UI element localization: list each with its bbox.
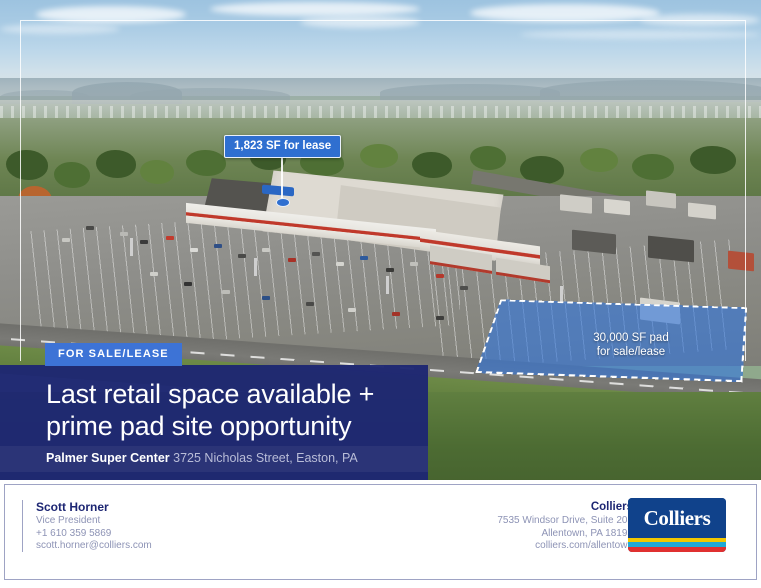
tree — [186, 150, 226, 176]
cloud — [470, 4, 660, 22]
tree — [470, 146, 506, 170]
colliers-logo[interactable]: Colliers — [628, 498, 726, 552]
house — [646, 190, 676, 208]
footer-accent-rule — [22, 500, 23, 552]
status-badge: FOR SALE/LEASE — [45, 343, 182, 366]
car — [436, 316, 444, 320]
logo-plate: Colliers — [628, 498, 726, 538]
light-pole — [130, 238, 133, 256]
office-address-line-1: 7535 Windsor Drive, Suite 208 — [497, 515, 633, 528]
house — [560, 194, 592, 213]
contact-block: Scott Horner Vice President +1 610 359 5… — [36, 499, 152, 553]
car — [222, 290, 230, 294]
tree — [140, 160, 174, 184]
car — [348, 308, 356, 312]
car — [214, 244, 222, 248]
car — [262, 248, 270, 252]
car — [62, 238, 70, 242]
tree — [690, 146, 736, 174]
car — [190, 248, 198, 252]
pad-site-label-line1: 30,000 SF pad — [556, 332, 706, 346]
pad-site-label-line2: for sale/lease — [556, 346, 706, 360]
cloud — [640, 14, 760, 26]
car — [262, 296, 270, 300]
car — [238, 254, 246, 258]
logo-wordmark: Colliers — [644, 507, 711, 529]
flyer-page: 30,000 SF pad for sale/lease 1,823 SF fo… — [0, 0, 761, 588]
tree — [96, 150, 136, 178]
car — [336, 262, 344, 266]
car — [392, 312, 400, 316]
contact-name: Scott Horner — [36, 499, 152, 515]
car — [306, 302, 314, 306]
car — [460, 286, 468, 290]
light-pole — [386, 276, 389, 294]
tree — [360, 144, 398, 168]
headline-line-2: prime pad site opportunity — [46, 410, 426, 442]
car — [86, 226, 94, 230]
car — [386, 268, 394, 272]
tree — [6, 150, 48, 180]
contact-email[interactable]: scott.horner@colliers.com — [36, 540, 152, 553]
car — [360, 256, 368, 260]
headline-line-1: Last retail space available + — [46, 378, 426, 410]
property-subtitle: Palmer Super Center 3725 Nicholas Street… — [46, 450, 358, 467]
office-name: Colliers — [497, 500, 633, 515]
car — [436, 274, 444, 278]
car — [410, 262, 418, 266]
office-address-line-2: Allentown, PA 18195 — [497, 528, 633, 541]
car — [184, 282, 192, 286]
car — [120, 232, 128, 236]
property-address: 3725 Nicholas Street, Easton, PA — [173, 451, 358, 465]
tree — [632, 154, 674, 180]
contact-phone[interactable]: +1 610 359 5869 — [36, 528, 152, 541]
office-block: Colliers 7535 Windsor Drive, Suite 208 A… — [497, 500, 633, 553]
cloud — [36, 6, 186, 23]
tree — [54, 162, 90, 188]
contact-title: Vice President — [36, 515, 152, 528]
callout-leader-line — [281, 155, 283, 203]
lease-space-callout: 1,823 SF for lease — [224, 135, 341, 158]
cloud — [520, 30, 760, 39]
tree — [412, 152, 452, 178]
car — [140, 240, 148, 244]
cloud — [210, 2, 420, 16]
commercial-building — [648, 236, 694, 263]
car — [150, 272, 158, 276]
car — [312, 252, 320, 256]
property-name: Palmer Super Center — [46, 451, 170, 465]
page-title: Last retail space available + prime pad … — [46, 378, 426, 442]
cloud — [300, 16, 420, 28]
house — [688, 203, 716, 220]
cloud — [0, 24, 120, 34]
pad-site-label: 30,000 SF pad for sale/lease — [556, 332, 706, 359]
logo-stripe-red — [628, 547, 726, 552]
office-website[interactable]: colliers.com/allentown — [497, 540, 633, 553]
tree — [580, 148, 618, 172]
light-pole — [254, 258, 257, 276]
car — [288, 258, 296, 262]
car — [166, 236, 174, 240]
callout-anchor-point — [276, 198, 290, 207]
light-pole — [560, 286, 563, 302]
house — [728, 251, 754, 272]
house — [604, 199, 630, 216]
